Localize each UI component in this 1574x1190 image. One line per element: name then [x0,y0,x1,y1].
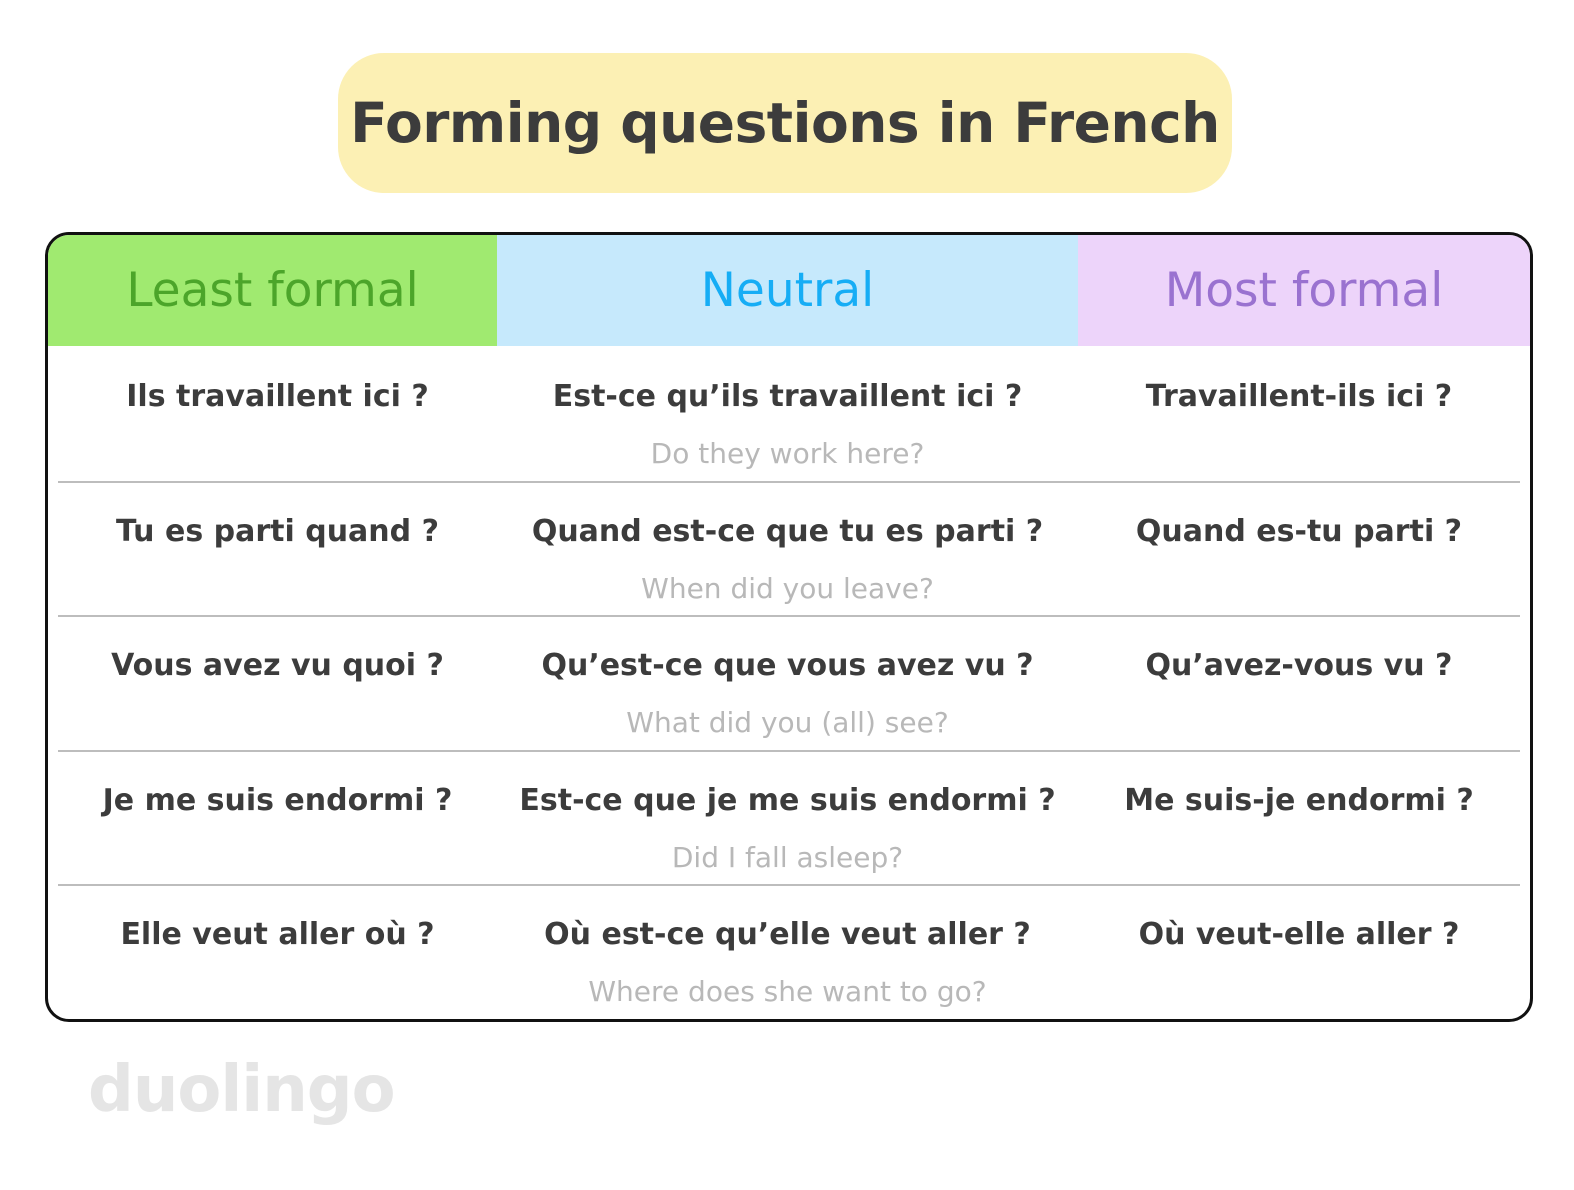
sentence-most-formal: Me suis-je endormi ? [1124,786,1474,816]
cell-neutral: Quand est-ce que tu es parti ? [497,501,1078,563]
translation-inner: Where does she want to go? [497,966,1078,1006]
sentence-least-formal: Elle veut aller où ? [120,920,434,950]
translation-inner: When did you leave? [497,563,1078,603]
translation-inner: Did I fall asleep? [497,832,1078,872]
cell-neutral: Est-ce qu’ils travaillent ici ? [497,366,1078,428]
sentence-most-formal: Travaillent-ils ici ? [1146,382,1452,412]
row-sentences: Je me suis endormi ? Est-ce que je me su… [58,750,1520,832]
table-row: Ils travaillent ici ? Est-ce qu’ils trav… [58,346,1520,481]
translation-spacer [58,697,497,737]
sentence-least-formal: Je me suis endormi ? [103,786,453,816]
page-title: Forming questions in French [350,96,1220,151]
sentence-neutral: Qu’est-ce que vous avez vu ? [541,651,1033,681]
column-header-least-formal: Least formal [48,235,497,346]
sentence-neutral: Où est-ce qu’elle veut aller ? [544,920,1031,950]
translation-spacer [58,966,497,1006]
cell-most-formal: Me suis-je endormi ? [1078,770,1520,832]
column-header-label: Neutral [701,267,874,314]
table-row: Elle veut aller où ? Où est-ce qu’elle v… [58,884,1520,1019]
duolingo-logo: duolingo [88,1058,395,1122]
translation-text: Do they work here? [651,440,925,468]
cell-least-formal: Je me suis endormi ? [58,770,497,832]
translation-text: When did you leave? [641,575,934,603]
column-header-most-formal: Most formal [1078,235,1530,346]
sentence-least-formal: Ils travaillent ici ? [126,382,428,412]
cell-least-formal: Vous avez vu quoi ? [58,635,497,697]
sentence-least-formal: Tu es parti quand ? [116,517,439,547]
title-pill: Forming questions in French [338,53,1232,193]
cell-most-formal: Quand es-tu parti ? [1078,501,1520,563]
table-row: Tu es parti quand ? Quand est-ce que tu … [58,481,1520,616]
row-sentences: Tu es parti quand ? Quand est-ce que tu … [58,481,1520,563]
cell-least-formal: Tu es parti quand ? [58,501,497,563]
row-sentences: Ils travaillent ici ? Est-ce qu’ils trav… [58,346,1520,428]
table-row: Vous avez vu quoi ? Qu’est-ce que vous a… [58,615,1520,750]
translation-spacer [58,563,497,603]
table-row: Je me suis endormi ? Est-ce que je me su… [58,750,1520,885]
table-body: Ils travaillent ici ? Est-ce qu’ils trav… [48,346,1530,1019]
translation-inner: Do they work here? [497,428,1078,468]
translation-spacer [58,832,497,872]
column-header-neutral: Neutral [497,235,1078,346]
sentence-neutral: Quand est-ce que tu es parti ? [532,517,1043,547]
translation-text: What did you (all) see? [626,709,948,737]
cell-most-formal: Qu’avez-vous vu ? [1078,635,1520,697]
translation-wrap: When did you leave? [58,563,1520,603]
column-header-label: Least formal [126,267,418,314]
cell-most-formal: Où veut-elle aller ? [1078,904,1520,966]
cell-neutral: Qu’est-ce que vous avez vu ? [497,635,1078,697]
cell-most-formal: Travaillent-ils ici ? [1078,366,1520,428]
sentence-neutral: Est-ce qu’ils travaillent ici ? [553,382,1023,412]
cell-least-formal: Elle veut aller où ? [58,904,497,966]
translation-inner: What did you (all) see? [497,697,1078,737]
sentence-most-formal: Quand es-tu parti ? [1136,517,1462,547]
cell-least-formal: Ils travaillent ici ? [58,366,497,428]
translation-text: Did I fall asleep? [672,844,903,872]
translation-spacer [58,428,497,468]
cell-neutral: Est-ce que je me suis endormi ? [497,770,1078,832]
table-header-row: Least formal Neutral Most formal [48,235,1530,346]
cell-neutral: Où est-ce qu’elle veut aller ? [497,904,1078,966]
row-sentences: Elle veut aller où ? Où est-ce qu’elle v… [58,884,1520,966]
column-header-label: Most formal [1165,267,1444,314]
translation-wrap: Where does she want to go? [58,966,1520,1006]
translation-wrap: What did you (all) see? [58,697,1520,737]
sentence-most-formal: Où veut-elle aller ? [1139,920,1460,950]
sentence-most-formal: Qu’avez-vous vu ? [1146,651,1453,681]
translation-text: Where does she want to go? [588,978,986,1006]
row-sentences: Vous avez vu quoi ? Qu’est-ce que vous a… [58,615,1520,697]
sentence-least-formal: Vous avez vu quoi ? [111,651,444,681]
translation-wrap: Do they work here? [58,428,1520,468]
translation-wrap: Did I fall asleep? [58,832,1520,872]
sentence-neutral: Est-ce que je me suis endormi ? [519,786,1055,816]
formality-table: Least formal Neutral Most formal Ils tra… [45,232,1533,1022]
